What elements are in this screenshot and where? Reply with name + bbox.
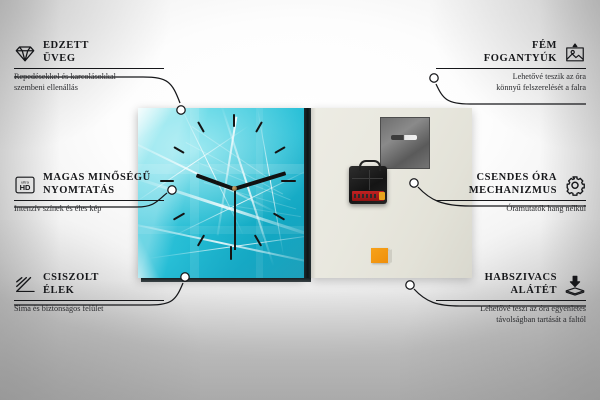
mechanism-seam bbox=[352, 178, 383, 179]
callout-silent-mechanism[interactable]: CSENDES ÓRA MECHANIZMUS Óramutatók hang … bbox=[436, 172, 586, 215]
hand-pin bbox=[232, 186, 237, 191]
callout-description: Repedésekkel és karcolásokkal szembeni e… bbox=[14, 72, 164, 93]
callout-description: Lehetővé teszik az óra könnyű felszerelé… bbox=[436, 72, 586, 93]
callout-title: MAGAS MINŐSÉGŰ NYOMTATÁS bbox=[43, 172, 151, 197]
callout-polished-edges[interactable]: CSISZOLT ÉLEK Sima és biztonságos felüle… bbox=[14, 272, 164, 315]
picture-hanger-icon bbox=[564, 42, 586, 64]
hour-marker bbox=[274, 146, 285, 154]
metal-hanger-plate bbox=[380, 117, 430, 169]
callout-divider bbox=[436, 300, 586, 301]
product-image bbox=[138, 108, 472, 278]
foam-pad-arrow-icon bbox=[564, 274, 586, 296]
callout-description: Sima és biztonságos felület bbox=[14, 304, 164, 315]
glass-bottom-edge bbox=[141, 278, 311, 282]
callout-header: ultra HD MAGAS MINŐSÉGŰ NYOMTATÁS bbox=[14, 172, 164, 197]
hanger-slot bbox=[391, 135, 417, 140]
callout-divider bbox=[14, 68, 164, 69]
hour-marker bbox=[173, 146, 184, 154]
hour-marker bbox=[173, 212, 185, 220]
ultra-hd-icon: ultra HD bbox=[14, 174, 36, 196]
hour-marker bbox=[230, 246, 232, 260]
callout-header: CSENDES ÓRA MECHANIZMUS bbox=[436, 172, 586, 197]
gear-icon bbox=[564, 174, 586, 196]
callout-description: Óramutatók hang nélkül bbox=[436, 204, 586, 215]
callout-tempered-glass[interactable]: EDZETT ÜVEG Repedésekkel és karcolásokka… bbox=[14, 40, 164, 93]
callout-divider bbox=[436, 68, 586, 69]
callout-header: EDZETT ÜVEG bbox=[14, 40, 164, 65]
battery-label bbox=[354, 194, 376, 198]
aa-battery bbox=[352, 191, 384, 201]
hour-marker bbox=[233, 114, 235, 127]
diamond-icon bbox=[14, 42, 36, 64]
hour-marker bbox=[281, 180, 296, 182]
callout-header: HABSZIVACS ALÁTÉT bbox=[436, 272, 586, 297]
clock-mechanism bbox=[349, 166, 387, 204]
callout-header: CSISZOLT ÉLEK bbox=[14, 272, 164, 297]
callout-high-quality-print[interactable]: ultra HD MAGAS MINŐSÉGŰ NYOMTATÁS Intenz… bbox=[14, 172, 164, 215]
callout-title: FÉM FOGANTYÚK bbox=[484, 40, 557, 65]
battery-terminal bbox=[379, 192, 385, 200]
callout-title: EDZETT ÜVEG bbox=[43, 40, 89, 65]
callout-metal-handles[interactable]: FÉM FOGANTYÚK Lehetővé teszik az óra kön… bbox=[436, 40, 586, 93]
callout-description: Lehetővé teszi az óra egyenletes távolsá… bbox=[436, 304, 586, 325]
mechanism-hanging-loop bbox=[359, 160, 381, 171]
callout-title: CSISZOLT ÉLEK bbox=[43, 272, 99, 297]
callout-title: CSENDES ÓRA MECHANIZMUS bbox=[469, 172, 557, 197]
polished-edges-icon bbox=[14, 274, 36, 296]
foam-spacer-pad bbox=[371, 248, 388, 263]
callout-title: HABSZIVACS ALÁTÉT bbox=[485, 272, 557, 297]
callout-divider bbox=[14, 200, 164, 201]
callout-foam-pad[interactable]: HABSZIVACS ALÁTÉT Lehetővé teszi az óra … bbox=[436, 272, 586, 325]
infographic-canvas: EDZETT ÜVEG Repedésekkel és karcolásokka… bbox=[0, 0, 600, 400]
second-hand bbox=[234, 188, 236, 250]
callout-divider bbox=[436, 200, 586, 201]
callout-header: FÉM FOGANTYÚK bbox=[436, 40, 586, 65]
mechanism-seam-vertical bbox=[369, 170, 370, 190]
callout-divider bbox=[14, 300, 164, 301]
glass-side-edge bbox=[304, 108, 311, 278]
svg-text:HD: HD bbox=[20, 183, 31, 192]
callout-description: Intenzív színek és éles kép bbox=[14, 204, 164, 215]
